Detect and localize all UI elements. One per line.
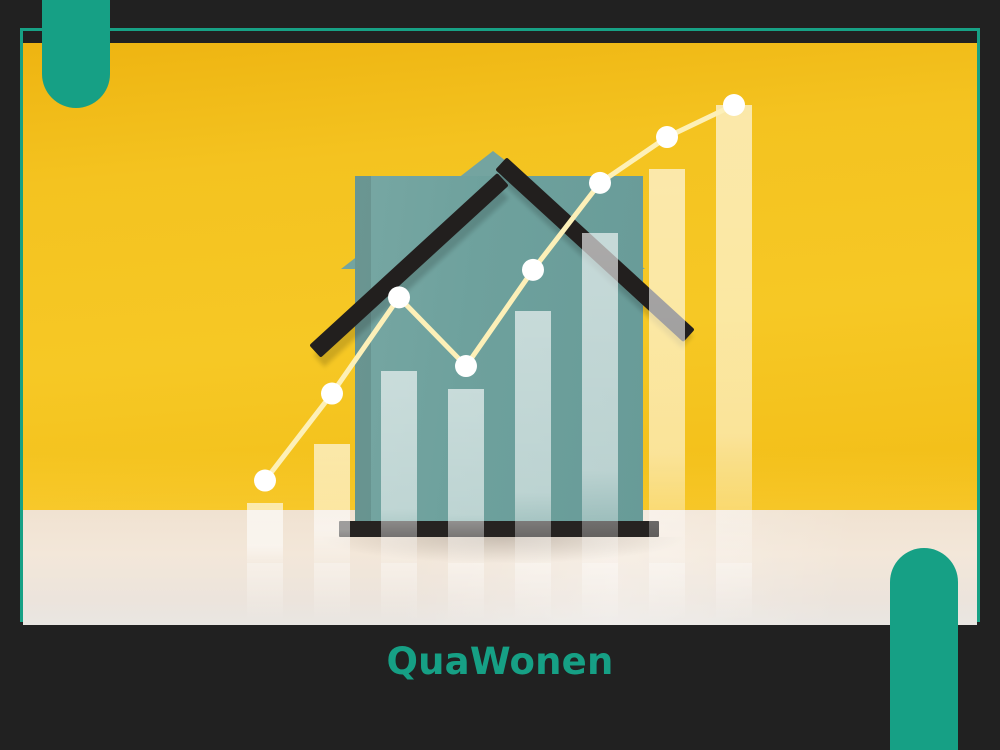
chart-data-point xyxy=(656,126,678,148)
chart-data-point xyxy=(455,355,477,377)
photo-image xyxy=(23,43,977,625)
poster-canvas: QuaWonen xyxy=(0,0,1000,750)
caption: QuaWonen xyxy=(0,640,1000,683)
brand-name: QuaWonen xyxy=(0,640,1000,683)
overlay-chart xyxy=(23,43,977,625)
chart-data-point xyxy=(522,259,544,281)
chart-data-point xyxy=(254,470,276,492)
chart-data-point xyxy=(388,286,410,308)
chart-data-point xyxy=(321,383,343,405)
photo-frame xyxy=(20,28,980,622)
chart-data-point xyxy=(589,172,611,194)
chart-data-point xyxy=(723,94,745,116)
chart-trend-line xyxy=(23,43,977,625)
decorative-capsule-top xyxy=(42,0,110,108)
